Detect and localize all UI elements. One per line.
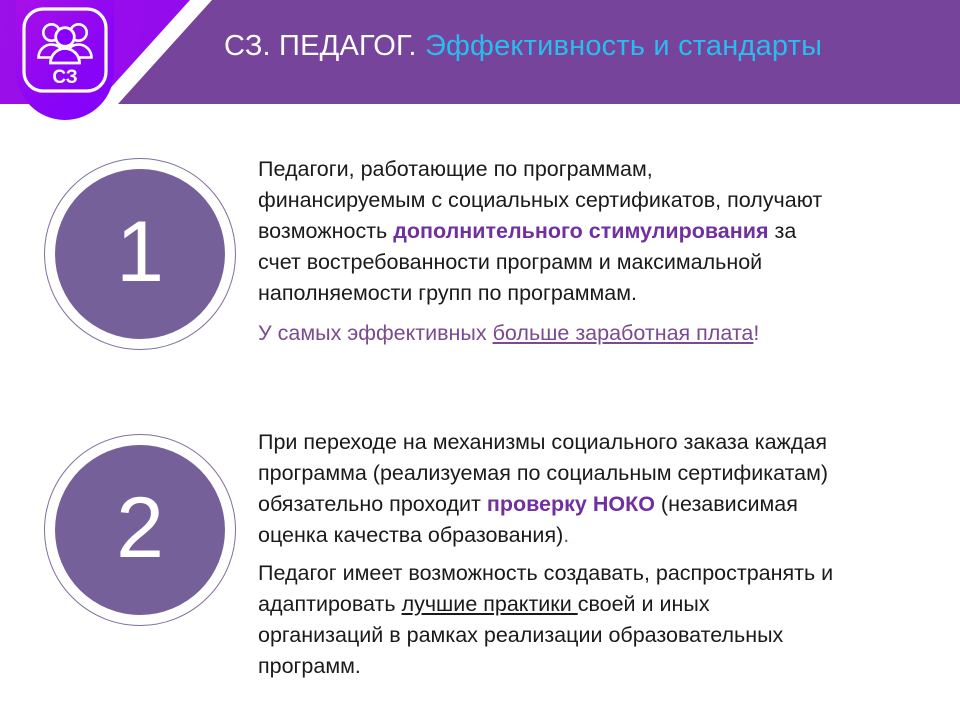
- block-2-line-3: обязательно проходит проверку НОКО (неза…: [258, 489, 918, 520]
- block-2-line-4: оценка качества образования).: [258, 520, 918, 551]
- block-1-highlight: дополнительного стимулирования: [393, 219, 768, 243]
- header-banner: СЗ СЗ. ПЕДАГОГ. Эффективность и стандарт…: [0, 0, 960, 104]
- block-2-sub-text: Педагог имеет возможность создавать, рас…: [258, 558, 918, 682]
- block-2-line-3-before: обязательно проходит: [258, 492, 487, 516]
- block-1-line-3-before: возможность: [258, 219, 393, 243]
- block-2-line-3-after: (независимая: [655, 492, 798, 516]
- block-1-line-3-after: за: [769, 219, 797, 243]
- page-title: СЗ. ПЕДАГОГ. Эффективность и стандарты: [224, 28, 944, 64]
- block-1-line-4: счет востребованности программ и максима…: [258, 247, 898, 278]
- block-2-sub-line-4: программ.: [258, 651, 918, 682]
- block-1-main-text: Педагоги, работающие по программам, фина…: [258, 154, 898, 309]
- page-title-accent: Эффективность и стандарты: [425, 30, 822, 62]
- block-2-highlight: проверку НОКО: [487, 492, 655, 516]
- block-1-line-2: финансируемым с социальных сертификатов,…: [258, 185, 898, 216]
- step-circle-2-number: 2: [116, 485, 164, 571]
- block-1-sub-before: У самых эффективных: [258, 321, 493, 345]
- block-1-line-3: возможность дополнительного стимулирован…: [258, 216, 898, 247]
- block-1-sub-after: !: [753, 321, 759, 345]
- block-1-sub-underlined: больше заработная плата: [493, 321, 754, 345]
- step-circle-1-fill: 1: [55, 169, 225, 339]
- step-circle-2-fill: 2: [55, 445, 225, 615]
- step-circle-1: 1: [44, 158, 238, 352]
- people-group-icon: СЗ: [21, 6, 109, 94]
- block-2-sub-line-2-after: своей и иных: [578, 592, 710, 616]
- block-2-line-4-text: оценка качества образования): [258, 523, 563, 547]
- block-2-line-1: При переходе на механизмы социального за…: [258, 427, 918, 458]
- block-2-main-text: При переходе на механизмы социального за…: [258, 427, 918, 551]
- logo-badge-text: СЗ: [52, 67, 77, 88]
- block-2-sub-underlined: лучшие практики: [402, 592, 578, 616]
- block-2-sub-line-2-before: адаптировать: [258, 592, 402, 616]
- block-1-line-5: наполняемости групп по программам.: [258, 278, 898, 309]
- page-title-prefix: СЗ. ПЕДАГОГ.: [224, 30, 425, 62]
- block-2-line-2: программа (реализуемая по социальным сер…: [258, 458, 918, 489]
- step-circle-2: 2: [44, 434, 238, 628]
- block-2-sub-line-1: Педагог имеет возможность создавать, рас…: [258, 558, 918, 589]
- block-2-sub-line-2: адаптировать лучшие практики своей и ины…: [258, 589, 918, 620]
- step-circle-1-number: 1: [116, 209, 164, 295]
- block-1-sub-text: У самых эффективных больше заработная пл…: [258, 318, 898, 349]
- block-1-line-1: Педагоги, работающие по программам,: [258, 154, 898, 185]
- block-2-sub-line-3: организаций в рамках реализации образова…: [258, 620, 918, 651]
- logo-badge: СЗ: [21, 6, 109, 94]
- block-2-line-4-dot: .: [563, 523, 569, 547]
